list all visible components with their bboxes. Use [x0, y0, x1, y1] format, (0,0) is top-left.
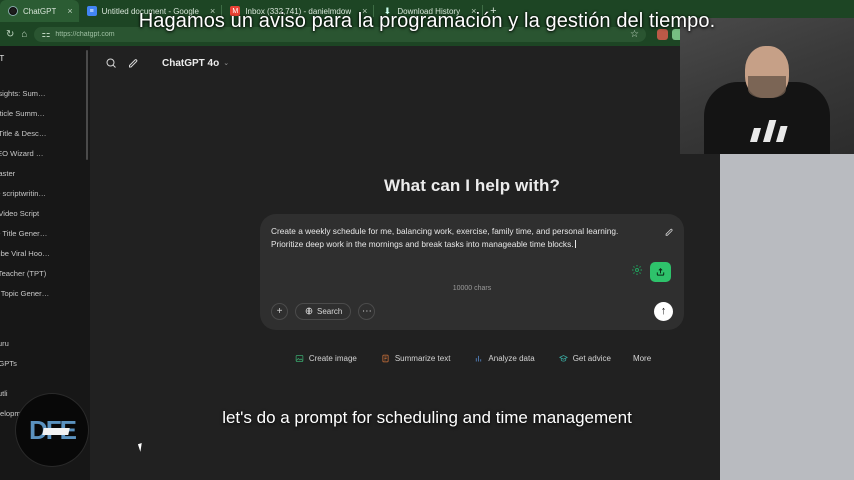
- suggestion-label: Analyze data: [488, 354, 534, 363]
- search-toggle-label: Search: [317, 307, 342, 316]
- image-icon: [295, 354, 304, 363]
- sidebar-header-label: PT: [0, 46, 90, 63]
- webcam-overlay: [680, 18, 854, 154]
- extension-controls: [271, 262, 673, 282]
- sidebar-item[interactable]: be Title Gener…: [0, 223, 90, 243]
- subtitle-top: Hagamos un aviso para la programación y …: [0, 10, 854, 33]
- suggestion-analyze-data[interactable]: Analyze data: [465, 349, 543, 368]
- suggestion-summarize-text[interactable]: Summarize text: [372, 349, 460, 368]
- sidebar-item[interactable]: Tube Viral Hoo…: [0, 243, 90, 263]
- suggestion-label: Create image: [309, 354, 357, 363]
- sidebar-item[interactable]: y Teacher (TPT): [0, 263, 90, 283]
- prompt-composer[interactable]: Create a weekly schedule for me, balanci…: [260, 214, 684, 330]
- sidebar-item[interactable]: ar Topic Gener…: [0, 283, 90, 303]
- suggestion-label: Get advice: [573, 354, 611, 363]
- sidebar-scrollbar[interactable]: [86, 50, 88, 160]
- sidebar-item[interactable]: e GPTs: [0, 353, 90, 373]
- suggestion-create-image[interactable]: Create image: [286, 349, 366, 368]
- sidebar-item[interactable]: SEO Wizard …: [0, 143, 90, 163]
- sidebar-item[interactable]: Master: [0, 163, 90, 183]
- more-options-button[interactable]: ⋯: [358, 303, 375, 320]
- screen-root: ChatGPT × ≡ Untitled document - Google ×…: [0, 0, 854, 480]
- hoodie-logo-icon: [748, 118, 786, 142]
- gear-icon[interactable]: [631, 263, 643, 281]
- suggestion-label: Summarize text: [395, 354, 451, 363]
- model-selector[interactable]: ChatGPT 4o ⌄: [156, 55, 235, 72]
- suggestion-chips: Create image Summarize text: [286, 349, 658, 368]
- sidebar-item[interactable]: b Video Script: [0, 203, 90, 223]
- prompt-input[interactable]: Create a weekly schedule for me, balanci…: [271, 225, 673, 251]
- sidebar-item[interactable]: Guru: [0, 333, 90, 353]
- sidebar-item[interactable]: E: [0, 303, 90, 323]
- prompt-line-1: Create a weekly schedule for me, balanci…: [271, 226, 618, 236]
- search-toggle-button[interactable]: Search: [295, 303, 351, 320]
- pencil-icon[interactable]: [664, 224, 674, 242]
- screen-edge-strip: [720, 154, 854, 480]
- suggestion-get-advice[interactable]: Get advice: [550, 349, 620, 368]
- sidebar-item[interactable]: be scriptwritin…: [0, 183, 90, 203]
- send-button[interactable]: ↑: [654, 302, 673, 321]
- chevron-down-icon: ⌄: [223, 59, 229, 67]
- sidebar-item[interactable]: Article Summ…: [0, 103, 90, 123]
- dfe-logo-watermark: DFE: [16, 394, 88, 466]
- sidebar-item[interactable]: e Title & Desc…: [0, 123, 90, 143]
- prompt-line-2: Prioritize deep work in the mornings and…: [271, 239, 574, 249]
- sidebar-item[interactable]: Insights: Sum…: [0, 83, 90, 103]
- page-title: What can I help with?: [384, 176, 560, 196]
- suggestion-more[interactable]: More: [626, 349, 658, 368]
- new-chat-icon[interactable]: [122, 52, 144, 74]
- suggestion-label: More: [633, 354, 651, 363]
- upload-icon[interactable]: [650, 262, 671, 282]
- graduation-cap-icon: [559, 354, 568, 363]
- document-icon: [381, 354, 390, 363]
- presenter-beard: [748, 76, 786, 98]
- search-icon[interactable]: [100, 52, 122, 74]
- subtitle-bottom: let's do a prompt for scheduling and tim…: [0, 408, 854, 428]
- char-count-label: 10000 chars: [271, 285, 673, 292]
- composer-toolbar: + Search ⋯ ↑: [271, 302, 673, 321]
- model-name-label: ChatGPT 4o: [162, 58, 219, 69]
- text-caret: [575, 240, 576, 248]
- attach-button[interactable]: +: [271, 303, 288, 320]
- sidebar-conversation-list: Insights: Sum… Article Summ… e Title & D…: [0, 83, 90, 423]
- globe-icon: [304, 307, 313, 316]
- bar-chart-icon: [474, 354, 483, 363]
